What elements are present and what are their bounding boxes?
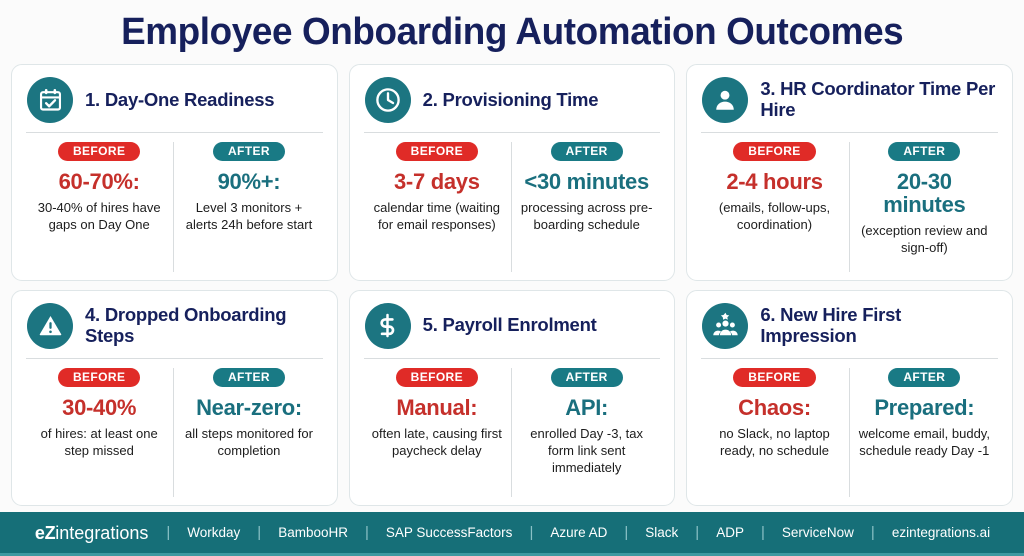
outcome-card-5: 5. Payroll Enrolment BEFORE Manual: ofte…	[349, 290, 676, 507]
after-column: AFTER API: enrolled Day -3, tax form lin…	[512, 368, 661, 498]
after-badge: AFTER	[888, 368, 960, 387]
before-column: BEFORE Manual: often late, causing first…	[363, 368, 512, 498]
comparison-columns: BEFORE Chaos: no Slack, no laptop ready,…	[700, 359, 999, 498]
footer-item-sap-successfactors[interactable]: SAP SuccessFactors	[369, 526, 530, 540]
before-description: calendar time (waiting for email respons…	[367, 199, 507, 234]
before-description: often late, causing first paycheck delay	[367, 425, 507, 460]
before-stat: Chaos:	[738, 396, 811, 419]
infographic-poster: Employee Onboarding Automation Outcomes …	[0, 0, 1024, 556]
after-stat: API:	[565, 396, 608, 419]
after-badge: AFTER	[551, 368, 623, 387]
outcome-card-3: 3. HR Coordinator Time Per Hire BEFORE 2…	[686, 64, 1013, 281]
before-description: 30-40% of hires have gaps on Day One	[29, 199, 169, 234]
after-column: AFTER 90%+: Level 3 monitors + alerts 24…	[174, 142, 323, 272]
before-badge: BEFORE	[396, 142, 478, 161]
before-badge: BEFORE	[733, 142, 815, 161]
title-bar: Employee Onboarding Automation Outcomes	[0, 0, 1024, 64]
before-column: BEFORE 60-70%: 30-40% of hires have gaps…	[25, 142, 174, 272]
footer-separator: |	[166, 525, 170, 540]
footer-separator: |	[695, 525, 699, 540]
outcome-card-2: 2. Provisioning Time BEFORE 3-7 days cal…	[349, 64, 676, 281]
clock-icon	[365, 77, 411, 123]
before-column: BEFORE 3-7 days calendar time (waiting f…	[363, 142, 512, 272]
card-header: 4. Dropped Onboarding Steps	[25, 300, 324, 350]
after-stat: Prepared:	[874, 396, 974, 419]
footer-item-adp[interactable]: ADP	[699, 526, 761, 540]
card-header: 1. Day-One Readiness	[25, 74, 324, 124]
card-title: 1. Day-One Readiness	[85, 90, 274, 111]
after-description: welcome email, buddy, schedule ready Day…	[854, 425, 995, 460]
warning-triangle-icon	[27, 303, 73, 349]
after-stat: 20-30 minutes	[854, 170, 995, 216]
before-stat: 3-7 days	[394, 170, 480, 193]
outcome-card-6: 6. New Hire First Impression BEFORE Chao…	[686, 290, 1013, 507]
calendar-check-icon	[27, 77, 73, 123]
card-title: 6. New Hire First Impression	[760, 305, 999, 346]
after-stat: 90%+:	[218, 170, 281, 193]
card-header: 5. Payroll Enrolment	[363, 300, 662, 350]
after-description: all steps monitored for completion	[178, 425, 319, 460]
before-badge: BEFORE	[396, 368, 478, 387]
before-column: BEFORE 2-4 hours (emails, follow-ups, co…	[700, 142, 849, 272]
outcome-card-4: 4. Dropped Onboarding Steps BEFORE 30-40…	[11, 290, 338, 507]
footer-separator: |	[257, 525, 261, 540]
card-title: 3. HR Coordinator Time Per Hire	[760, 79, 999, 120]
footer-separator: |	[624, 525, 628, 540]
brand-logo-mark: eZ	[35, 523, 55, 543]
card-header: 6. New Hire First Impression	[700, 300, 999, 350]
before-stat: 2-4 hours	[726, 170, 822, 193]
people-star-icon	[702, 303, 748, 349]
after-description: Level 3 monitors + alerts 24h before sta…	[178, 199, 319, 234]
before-badge: BEFORE	[58, 142, 140, 161]
comparison-columns: BEFORE 30-40% of hires: at least one ste…	[25, 359, 324, 498]
after-description: processing across pre-boarding schedule	[516, 199, 657, 234]
brand-logo-text: integrations	[55, 523, 148, 543]
footer-separator: |	[365, 525, 369, 540]
before-column: BEFORE Chaos: no Slack, no laptop ready,…	[700, 368, 849, 498]
comparison-columns: BEFORE 60-70%: 30-40% of hires have gaps…	[25, 133, 324, 272]
after-badge: AFTER	[213, 368, 285, 387]
before-stat: Manual:	[396, 396, 477, 419]
before-badge: BEFORE	[58, 368, 140, 387]
before-stat: 60-70%:	[59, 170, 140, 193]
dollar-sign-icon	[365, 303, 411, 349]
footer-separator: |	[871, 525, 875, 540]
comparison-columns: BEFORE 2-4 hours (emails, follow-ups, co…	[700, 133, 999, 272]
comparison-columns: BEFORE Manual: often late, causing first…	[363, 359, 662, 498]
card-title: 5. Payroll Enrolment	[423, 315, 597, 336]
footer-item-bamboohr[interactable]: BambooHR	[261, 526, 365, 540]
outcome-card-1: 1. Day-One Readiness BEFORE 60-70%: 30-4…	[11, 64, 338, 281]
after-description: enrolled Day -3, tax form link sent imme…	[516, 425, 657, 477]
after-badge: AFTER	[551, 142, 623, 161]
footer-item-website[interactable]: ezintegrations.ai	[875, 526, 1007, 540]
user-icon	[702, 77, 748, 123]
after-badge: AFTER	[213, 142, 285, 161]
footer-item-servicenow[interactable]: ServiceNow	[765, 526, 871, 540]
card-title: 4. Dropped Onboarding Steps	[85, 305, 324, 346]
before-stat: 30-40%	[62, 396, 136, 419]
comparison-columns: BEFORE 3-7 days calendar time (waiting f…	[363, 133, 662, 272]
card-title: 2. Provisioning Time	[423, 90, 599, 111]
footer-item-workday[interactable]: Workday	[170, 526, 257, 540]
footer-separator: |	[529, 525, 533, 540]
after-column: AFTER Near-zero: all steps monitored for…	[174, 368, 323, 498]
card-header: 3. HR Coordinator Time Per Hire	[700, 74, 999, 124]
after-description: (exception review and sign-off)	[854, 222, 995, 257]
after-column: AFTER 20-30 minutes (exception review an…	[850, 142, 999, 272]
brand-logo[interactable]: eZintegrations	[17, 524, 166, 542]
after-stat: Near-zero:	[196, 396, 302, 419]
before-badge: BEFORE	[733, 368, 815, 387]
after-stat: <30 minutes	[524, 170, 648, 193]
after-column: AFTER <30 minutes processing across pre-…	[512, 142, 661, 272]
before-description: (emails, follow-ups, coordination)	[704, 199, 844, 234]
before-column: BEFORE 30-40% of hires: at least one ste…	[25, 368, 174, 498]
footer-bar: eZintegrations | Workday | BambooHR | SA…	[0, 512, 1024, 556]
card-header: 2. Provisioning Time	[363, 74, 662, 124]
footer-separator: |	[761, 525, 765, 540]
footer-item-slack[interactable]: Slack	[628, 526, 695, 540]
after-column: AFTER Prepared: welcome email, buddy, sc…	[850, 368, 999, 498]
before-description: no Slack, no laptop ready, no schedule	[704, 425, 844, 460]
page-title: Employee Onboarding Automation Outcomes	[121, 13, 903, 51]
after-badge: AFTER	[888, 142, 960, 161]
card-grid: 1. Day-One Readiness BEFORE 60-70%: 30-4…	[0, 64, 1024, 512]
before-description: of hires: at least one step missed	[29, 425, 169, 460]
footer-item-azure-ad[interactable]: Azure AD	[533, 526, 624, 540]
